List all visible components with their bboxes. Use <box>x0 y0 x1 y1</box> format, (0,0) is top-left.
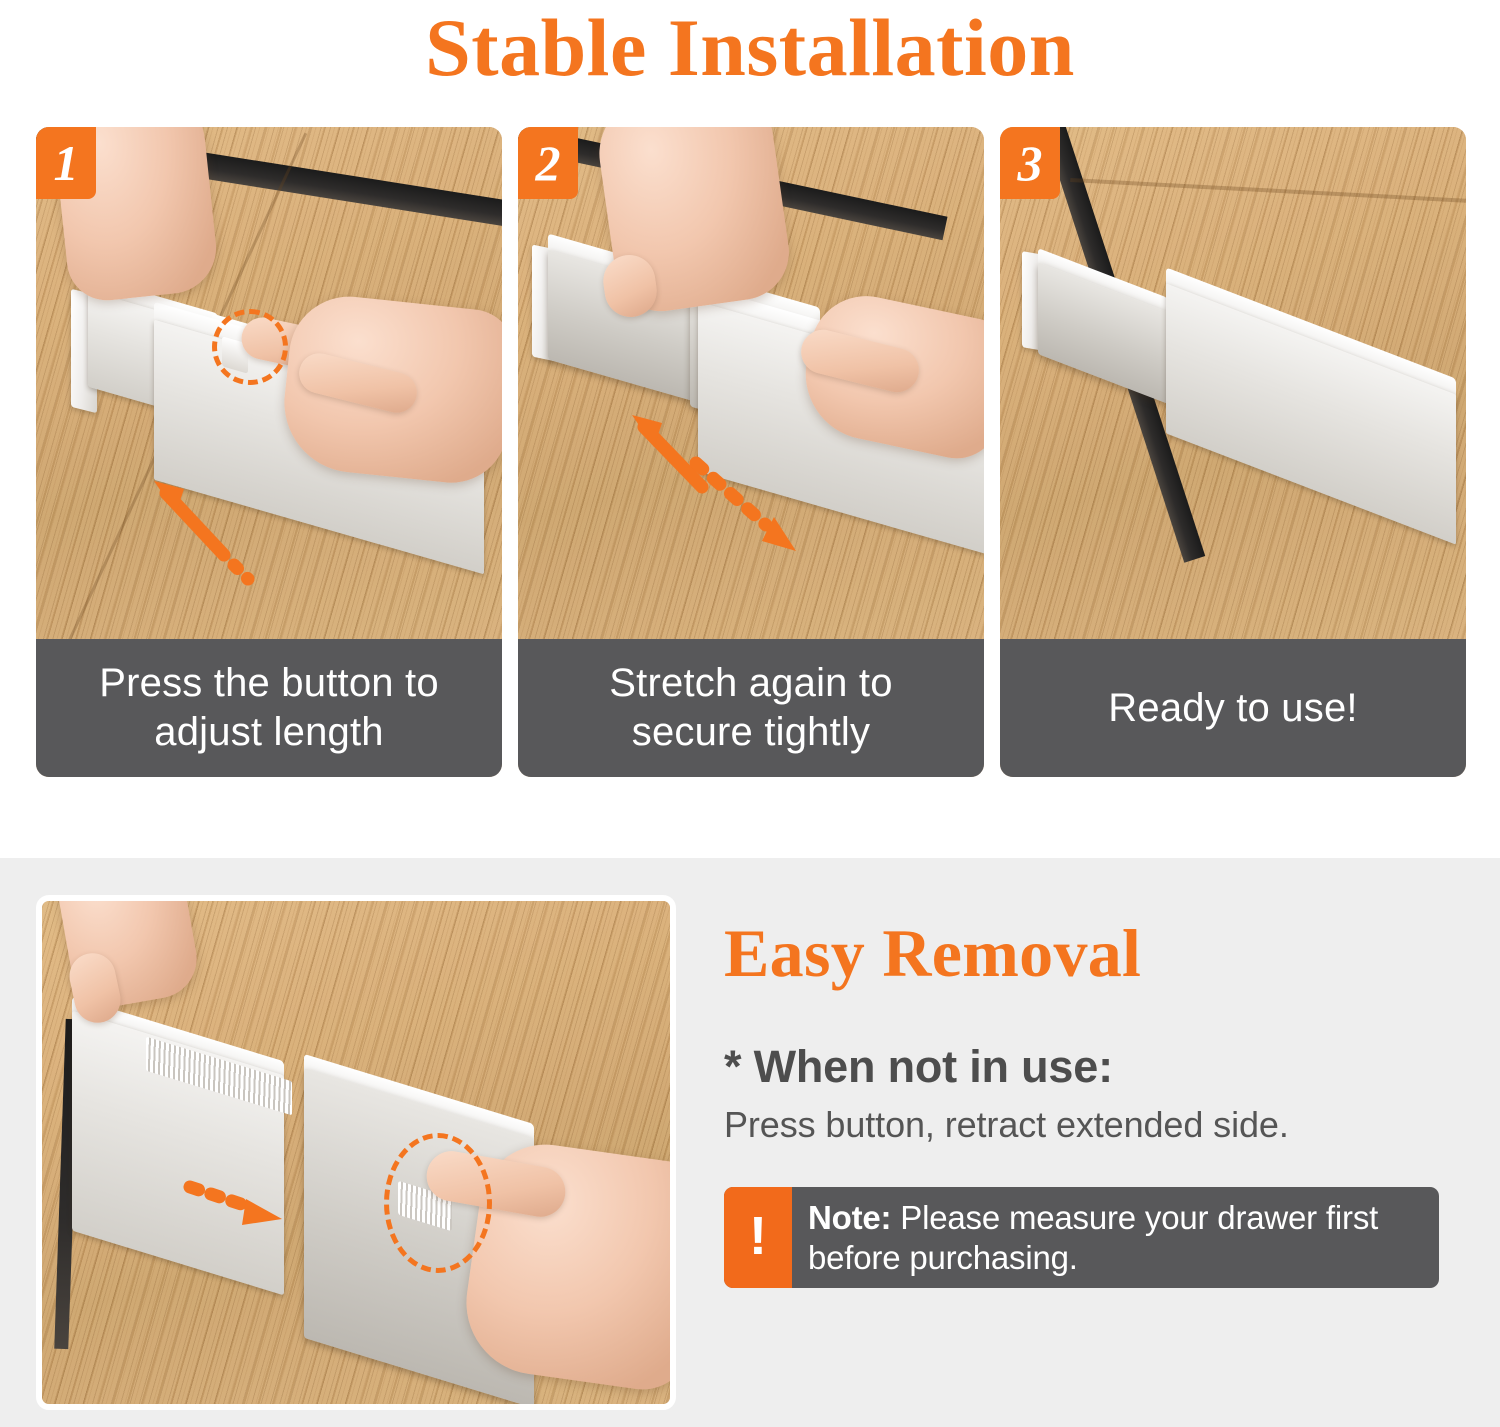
retract-instruction: Press button, retract extended side. <box>724 1102 1464 1147</box>
arrow-up-left-annotation <box>106 457 286 587</box>
note-text: Note: Please measure your drawer first b… <box>792 1187 1439 1288</box>
step-caption-2-line2: secure tightly <box>609 708 892 757</box>
exclamation-icon: ! <box>724 1187 792 1288</box>
easy-removal-text-column: Easy Removal * When not in use: Press bu… <box>724 914 1464 1288</box>
easy-removal-photo <box>36 895 676 1410</box>
note-body: Please measure your drawer first before … <box>808 1199 1378 1276</box>
step-number-badge-1: 1 <box>36 127 96 199</box>
step-3-photo <box>1000 127 1466 639</box>
dashed-circle-annotation <box>212 309 288 385</box>
easy-removal-section: Easy Removal * When not in use: Press bu… <box>0 858 1500 1427</box>
step-caption-1-line1: Press the button to <box>99 659 439 708</box>
step-caption-1: Press the button to adjust length <box>36 639 502 777</box>
step-card-1: 1 Press the button to adjust length <box>36 127 502 777</box>
note-banner: ! Note: Please measure your drawer first… <box>724 1187 1439 1288</box>
easy-removal-title: Easy Removal <box>724 914 1464 992</box>
step-card-3: 3 Ready to use! <box>1000 127 1466 777</box>
page-title: Stable Installation <box>0 0 1500 98</box>
product-infographic: Stable Installation <box>0 0 1500 1427</box>
step-card-2: 2 Stretch again to secure tightly <box>518 127 984 777</box>
dashed-circle-annotation <box>384 1133 492 1273</box>
step-caption-1-line2: adjust length <box>99 708 439 757</box>
step-number-badge-2: 2 <box>518 127 578 199</box>
when-not-in-use-label: * When not in use: <box>724 1040 1464 1094</box>
stable-installation-section: Stable Installation <box>0 0 1500 858</box>
step-caption-3-line1: Ready to use! <box>1108 684 1357 733</box>
note-label: Note: <box>808 1199 891 1236</box>
installation-steps-row: 1 Press the button to adjust length <box>36 127 1466 777</box>
step-caption-2-line1: Stretch again to <box>609 659 892 708</box>
arrow-right-dashed-annotation <box>182 1173 362 1253</box>
step-caption-2: Stretch again to secure tightly <box>518 639 984 777</box>
step-2-photo <box>518 127 984 639</box>
step-number-badge-3: 3 <box>1000 127 1060 199</box>
step-caption-3: Ready to use! <box>1000 639 1466 777</box>
step-1-photo <box>36 127 502 639</box>
arrow-down-right-dashed-annotation <box>688 453 868 583</box>
